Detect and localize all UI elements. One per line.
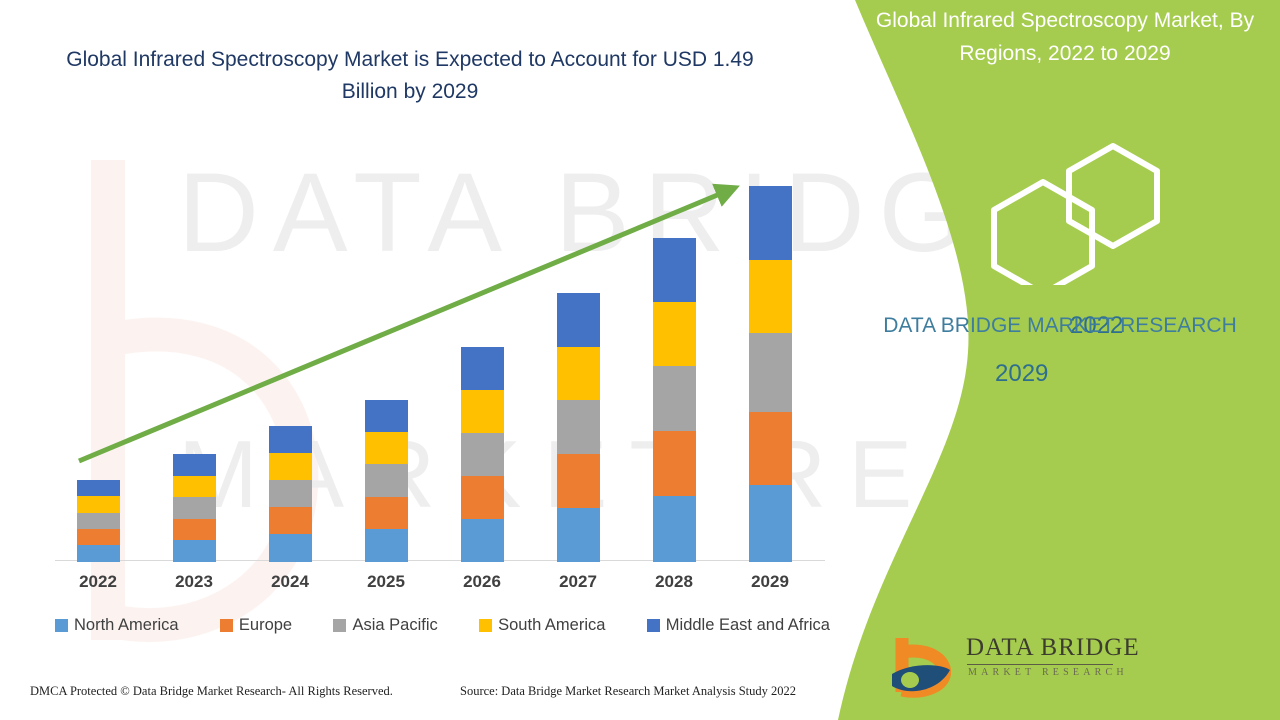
page-title: Global Infrared Spectroscopy Market is E…: [40, 44, 780, 108]
legend-label: Middle East and Africa: [666, 616, 830, 635]
footer-dmca-text: DMCA Protected © Data Bridge Market Rese…: [30, 684, 393, 699]
legend-swatch-icon: [220, 619, 233, 632]
legend-item[interactable]: Middle East and Africa: [647, 616, 830, 635]
legend-item[interactable]: Europe: [220, 616, 292, 635]
chart-legend: North AmericaEuropeAsia PacificSouth Ame…: [55, 616, 830, 635]
logo-subwordmark: MARKET RESEARCH: [968, 667, 1128, 678]
legend-swatch-icon: [55, 619, 68, 632]
x-axis: 20222023202420252026202720282029: [55, 572, 825, 598]
hexagon-2022-shape: [1069, 146, 1157, 246]
brand-name: DATA BRIDGE MARKET RESEARCH: [860, 310, 1260, 342]
legend-label: North America: [74, 616, 179, 635]
logo-block: DATA BRIDGE MARKET RESEARCH: [888, 628, 1158, 700]
legend-label: Europe: [239, 616, 292, 635]
legend-swatch-icon: [479, 619, 492, 632]
x-tick-2022: 2022: [66, 572, 130, 592]
x-tick-2029: 2029: [738, 572, 802, 592]
legend-item[interactable]: Asia Pacific: [333, 616, 437, 635]
panel-title: Global Infrared Spectroscopy Market, By …: [845, 4, 1280, 70]
footer-source-text: Source: Data Bridge Market Research Mark…: [460, 684, 796, 699]
right-panel-content: Global Infrared Spectroscopy Market, By …: [840, 0, 1280, 720]
legend-label: South America: [498, 616, 605, 635]
chart-panel: Global Infrared Spectroscopy Market is E…: [0, 0, 860, 720]
logo-divider: [967, 664, 1113, 665]
hexagon-2029-shape: [994, 182, 1092, 285]
x-tick-2027: 2027: [546, 572, 610, 592]
legend-swatch-icon: [333, 619, 346, 632]
x-tick-2028: 2028: [642, 572, 706, 592]
hexagon-pair-icon: [985, 140, 1180, 285]
legend-item[interactable]: North America: [55, 616, 179, 635]
hexagon-group: 2022 2029: [985, 140, 1180, 285]
x-tick-2026: 2026: [450, 572, 514, 592]
growth-arrow-icon: [55, 165, 825, 565]
x-tick-2023: 2023: [162, 572, 226, 592]
x-tick-2025: 2025: [354, 572, 418, 592]
legend-item[interactable]: South America: [479, 616, 605, 635]
hexagon-2029-label: 2029: [995, 360, 1048, 388]
data-bridge-logo-icon: [888, 630, 958, 700]
legend-swatch-icon: [647, 619, 660, 632]
x-tick-2024: 2024: [258, 572, 322, 592]
legend-label: Asia Pacific: [352, 616, 437, 635]
footer: DMCA Protected © Data Bridge Market Rese…: [0, 684, 860, 710]
logo-wordmark: DATA BRIDGE: [966, 634, 1140, 662]
